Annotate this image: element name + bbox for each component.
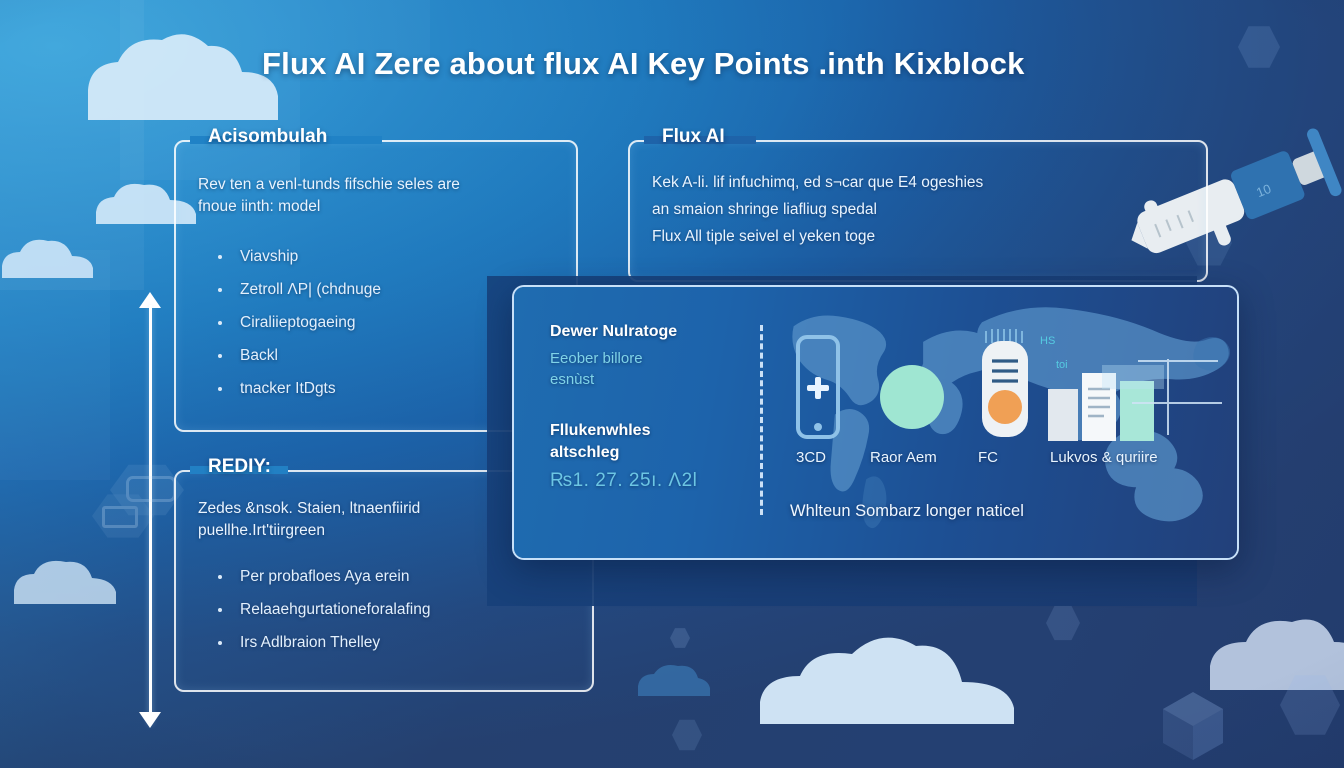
panel-body-line: Flux All tiple seivel el yeken toge [652,226,875,248]
panel-body-line: Zedes &nsok. Staien, ltnaenfiirid [198,498,420,520]
list-item[interactable]: Backl [198,339,381,372]
card-heading: Dewer Nulratoge [550,323,740,341]
list-item[interactable]: Relaaehgurtationeforalafing [198,593,430,626]
panel-flux-ai[interactable]: Flux AI Kek A-li. lif infuchimq, ed s¬ca… [628,140,1208,282]
card-heading-secondary: Fllukenwhles [550,420,740,442]
icon-label: Lukvos & quriire [1050,449,1158,466]
panel-title: REDIY: [198,456,281,478]
panel-bullet-list: Viavship Zetroll ΛP| (chdnuge Ciraliiept… [198,240,381,405]
panel-body-line: Kek A-li. lif infuchimq, ed s¬car que E4… [652,172,983,194]
card-numbers: ₨1. 27. 25ı. Λ2l [550,470,740,492]
panel-body-line: puellhe.Irt'tiirgreen [198,520,325,542]
panel-bullet-list: Per probafloes Aya erein Relaaehgurtatio… [198,560,430,659]
panel-body-line: Rev ten a venl-tunds fifschie seles are [198,174,460,196]
icon-label: FC [978,449,998,466]
page-title: Flux AI Zere about flux AI Key Points .i… [262,46,1122,82]
card-heading-secondary: altschleg [550,442,740,464]
card-left-column: Dewer Nulratoge Eeober billore esnùst Fl… [550,323,740,492]
list-item[interactable]: Zetroll ΛP| (chdnuge [198,273,381,306]
infographic-canvas: Flux AI Zere about flux AI Key Points .i… [0,0,1344,768]
card-subtext-line: Eeober billore [550,348,740,369]
list-item[interactable]: Viavship [198,240,381,273]
list-item[interactable]: Ciraliieptogaeing [198,306,381,339]
icon-label: Raor Aem [870,449,937,466]
bottle-icon[interactable] [972,327,1038,443]
panel-title: Flux AI [652,126,735,148]
phone-plus-icon[interactable] [794,335,842,439]
axis-arrow-down-icon [139,712,161,728]
list-item[interactable]: Irs Adlbraion Thelley [198,626,430,659]
feature-card[interactable]: Dewer Nulratoge Eeober billore esnùst Fl… [512,285,1239,560]
circle-icon[interactable] [880,365,944,429]
card-footer-text: Whlteun Sombarz longer naticel [790,502,1024,521]
list-item[interactable]: tnacker ItDgts [198,372,381,405]
card-subtext-line: esnùst [550,369,740,390]
panel-title: Acisombulah [198,126,337,148]
bar-chart-icon[interactable] [1046,355,1222,443]
list-item[interactable]: Per probafloes Aya erein [198,560,430,593]
panel-body-line: fnoue iinth: model [198,196,320,218]
card-icon-row: 3CD Raor Aem FC [788,327,1218,492]
icon-label: 3CD [796,449,826,466]
panel-body-line: an smaion shringe liafliug spedal [652,199,877,221]
card-divider-dashed [760,325,763,515]
